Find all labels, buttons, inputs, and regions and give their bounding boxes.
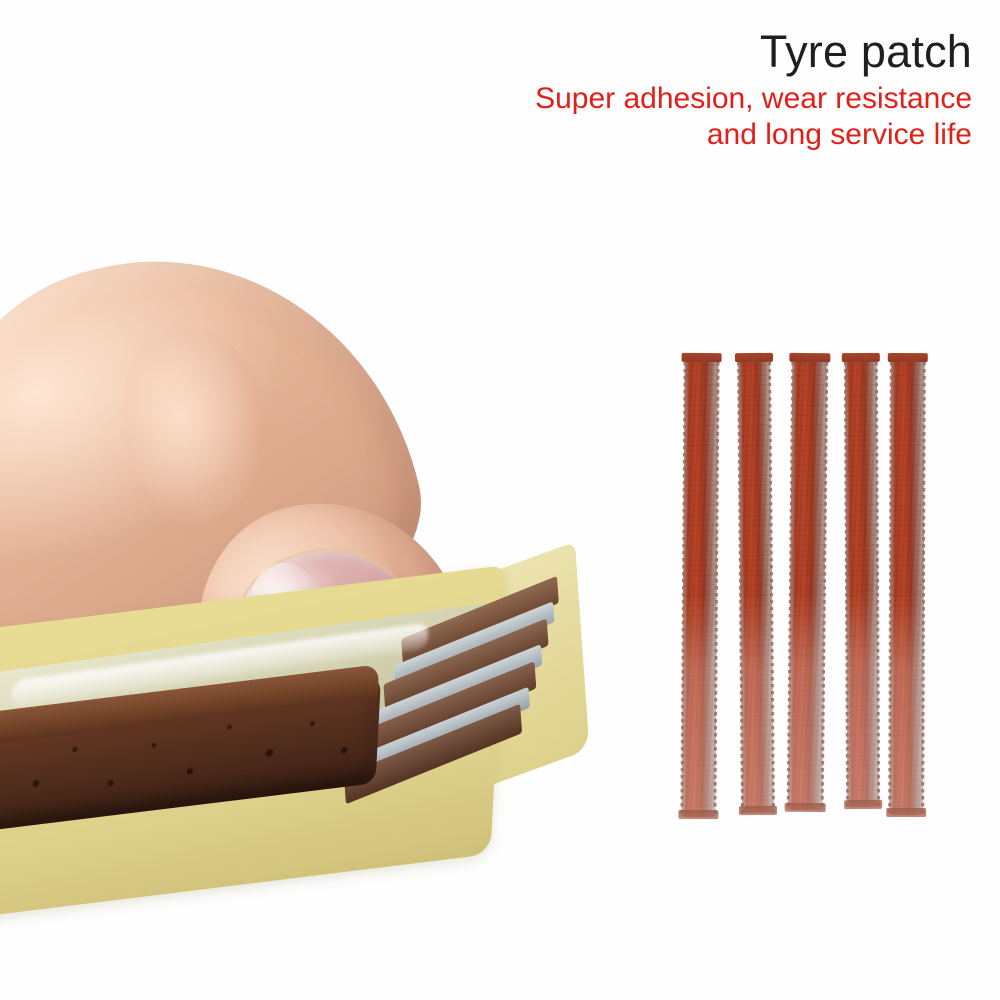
tyre-plug-strip — [845, 355, 879, 807]
tyre-plug-strip — [889, 355, 925, 815]
product-title: Tyre patch — [352, 28, 972, 75]
product-tagline: Super adhesion, wear resistance and long… — [352, 81, 972, 152]
marketing-text-block: Tyre patch Super adhesion, wear resistan… — [352, 28, 972, 152]
product-image: Tyre patch Super adhesion, wear resistan… — [0, 0, 1000, 1000]
tyre-plug-strip — [738, 355, 774, 813]
tagline-line-2: and long service life — [352, 117, 972, 152]
tyre-plug-strip — [681, 355, 718, 817]
tyre-plug-strip — [788, 355, 828, 810]
tagline-line-1: Super adhesion, wear resistance — [352, 81, 972, 116]
